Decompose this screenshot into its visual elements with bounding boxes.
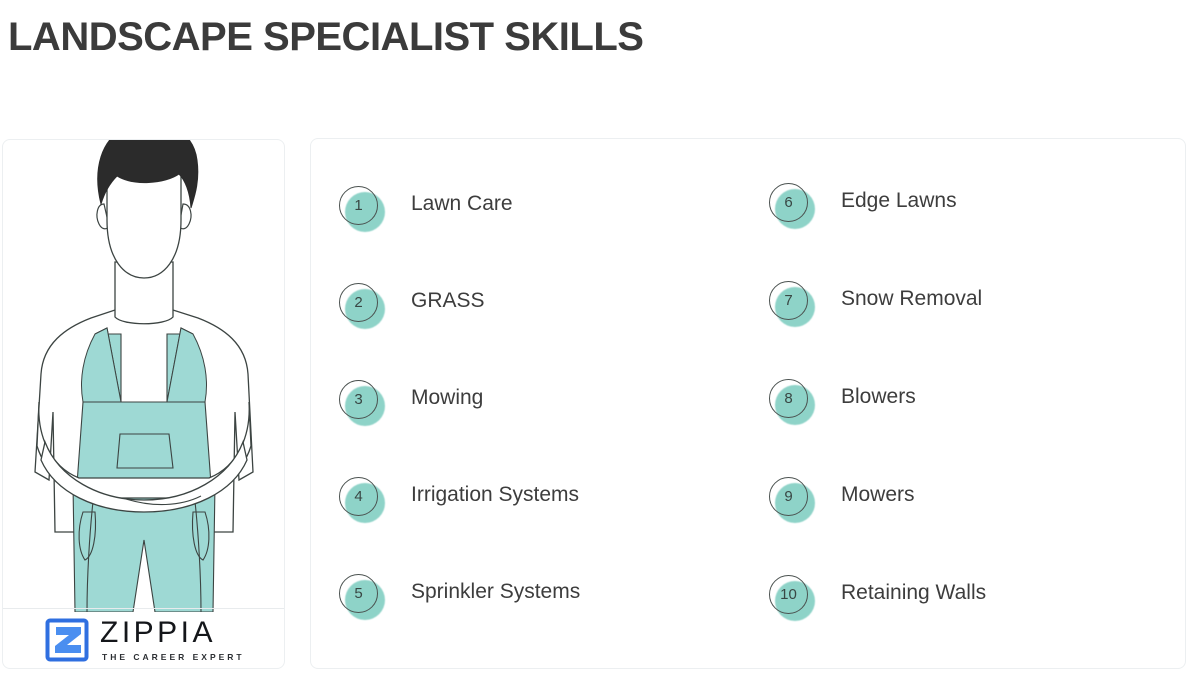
skill-number-badge: 1 (339, 186, 385, 232)
skill-item: 3 Mowing (339, 379, 749, 476)
logo-divider (3, 608, 285, 609)
skill-label: Mowers (841, 483, 915, 507)
skill-label: GRASS (411, 289, 485, 313)
badge-number: 3 (339, 380, 378, 419)
skills-column-right: 6 Edge Lawns 7 Snow Removal 8 Blowers (769, 182, 1169, 672)
skill-item: 10 Retaining Walls (769, 574, 1169, 672)
brand-tagline: THE CAREER EXPERT (102, 653, 245, 662)
badge-number: 8 (769, 379, 808, 418)
brand-wordmark: ZIPPIA (100, 618, 245, 648)
page-title: LANDSCAPE SPECIALIST SKILLS (8, 14, 643, 60)
skill-label: Irrigation Systems (411, 483, 579, 507)
skill-item: 1 Lawn Care (339, 185, 749, 282)
skill-label: Blowers (841, 385, 916, 409)
badge-number: 7 (769, 281, 808, 320)
skill-number-badge: 4 (339, 477, 385, 523)
skill-item: 9 Mowers (769, 476, 1169, 574)
badge-number: 1 (339, 186, 378, 225)
skill-number-badge: 8 (769, 379, 815, 425)
skill-label: Snow Removal (841, 287, 982, 311)
skill-number-badge: 9 (769, 477, 815, 523)
skills-column-left: 1 Lawn Care 2 GRASS 3 Mowing (339, 185, 749, 670)
skill-number-badge: 3 (339, 380, 385, 426)
skill-number-badge: 5 (339, 574, 385, 620)
badge-number: 4 (339, 477, 378, 516)
badge-number: 5 (339, 574, 378, 613)
skill-number-badge: 2 (339, 283, 385, 329)
skill-number-badge: 10 (769, 575, 815, 621)
skills-card: 1 Lawn Care 2 GRASS 3 Mowing (310, 138, 1186, 669)
skill-label: Mowing (411, 386, 483, 410)
person-illustration (3, 139, 285, 612)
brand-text-block: ZIPPIA THE CAREER EXPERT (100, 618, 245, 662)
skill-label: Sprinkler Systems (411, 580, 580, 604)
skill-label: Edge Lawns (841, 189, 957, 213)
skill-item: 8 Blowers (769, 378, 1169, 476)
illustration-card: ZIPPIA THE CAREER EXPERT (2, 139, 285, 669)
skill-label: Retaining Walls (841, 581, 986, 605)
skill-item: 6 Edge Lawns (769, 182, 1169, 280)
skill-number-badge: 6 (769, 183, 815, 229)
skill-item: 7 Snow Removal (769, 280, 1169, 378)
skill-item: 5 Sprinkler Systems (339, 573, 749, 670)
badge-number: 9 (769, 477, 808, 516)
skill-number-badge: 7 (769, 281, 815, 327)
zippia-z-logo-icon (45, 618, 89, 662)
brand-logo: ZIPPIA THE CAREER EXPERT (45, 618, 245, 662)
skill-item: 4 Irrigation Systems (339, 476, 749, 573)
badge-number: 6 (769, 183, 808, 222)
skill-label: Lawn Care (411, 192, 513, 216)
badge-number: 10 (769, 575, 808, 614)
skill-item: 2 GRASS (339, 282, 749, 379)
badge-number: 2 (339, 283, 378, 322)
